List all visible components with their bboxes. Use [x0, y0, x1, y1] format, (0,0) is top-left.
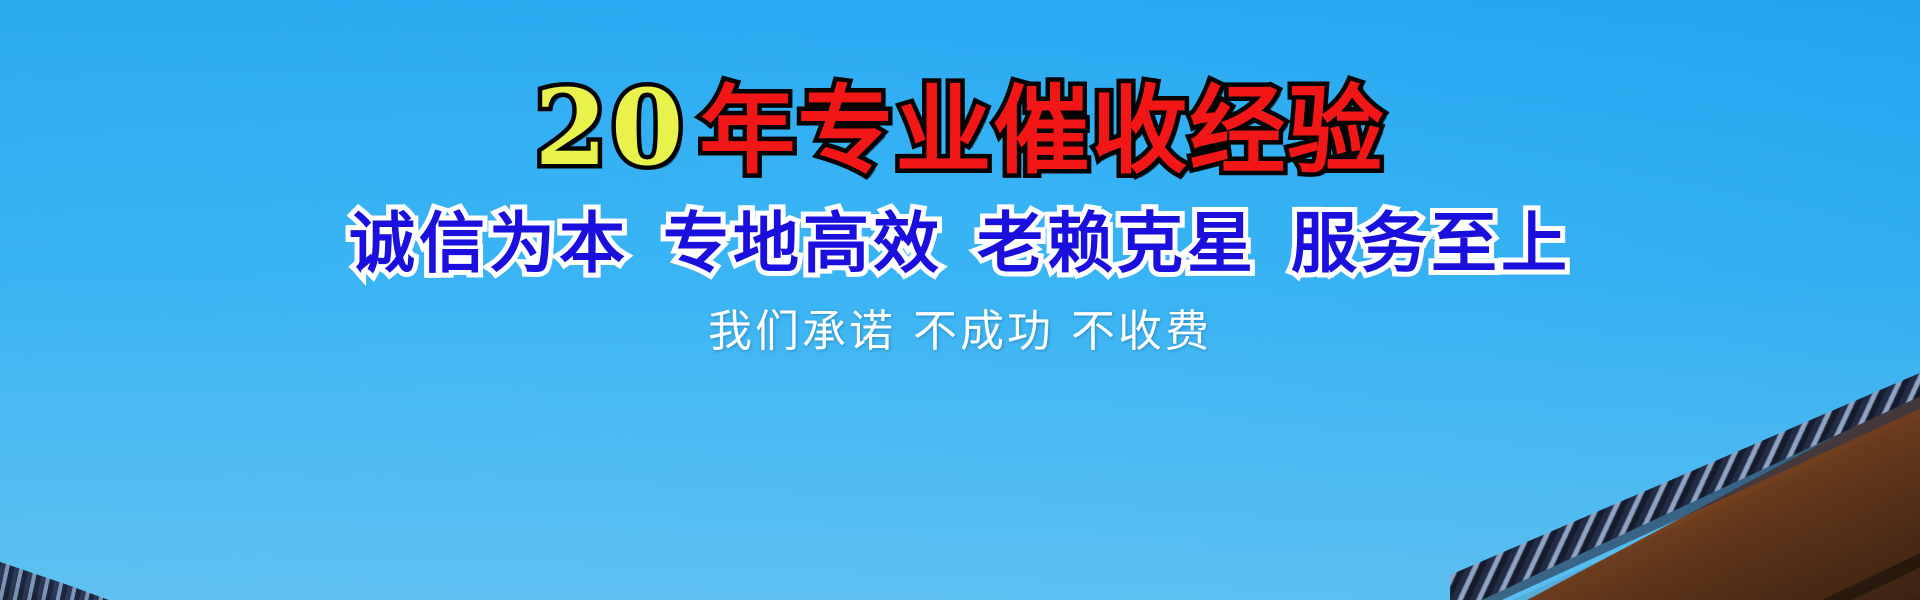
headline-main-text: 年专业催收经验: [699, 83, 1385, 179]
promo-banner: 20 年专业催收经验 诚信为本 专地高效 老赖克星 服务至上 我们承诺 不成功 …: [0, 0, 1920, 600]
headline: 20 年专业催收经验: [535, 76, 1386, 180]
slogan-phrase-2: 专地高效: [663, 210, 943, 276]
banner-content: 20 年专业催收经验 诚信为本 专地高效 老赖克星 服务至上 我们承诺 不成功 …: [0, 0, 1920, 600]
slogan-phrase-3: 老赖克星: [977, 210, 1257, 276]
promise-text: 我们承诺 不成功 不收费: [708, 310, 1212, 354]
slogan-phrase-1: 诚信为本: [349, 210, 629, 276]
slogan-phrase-4: 服务至上: [1291, 210, 1571, 276]
headline-years-number: 20: [535, 76, 688, 180]
slogan-line: 诚信为本 专地高效 老赖克星 服务至上: [349, 210, 1571, 276]
